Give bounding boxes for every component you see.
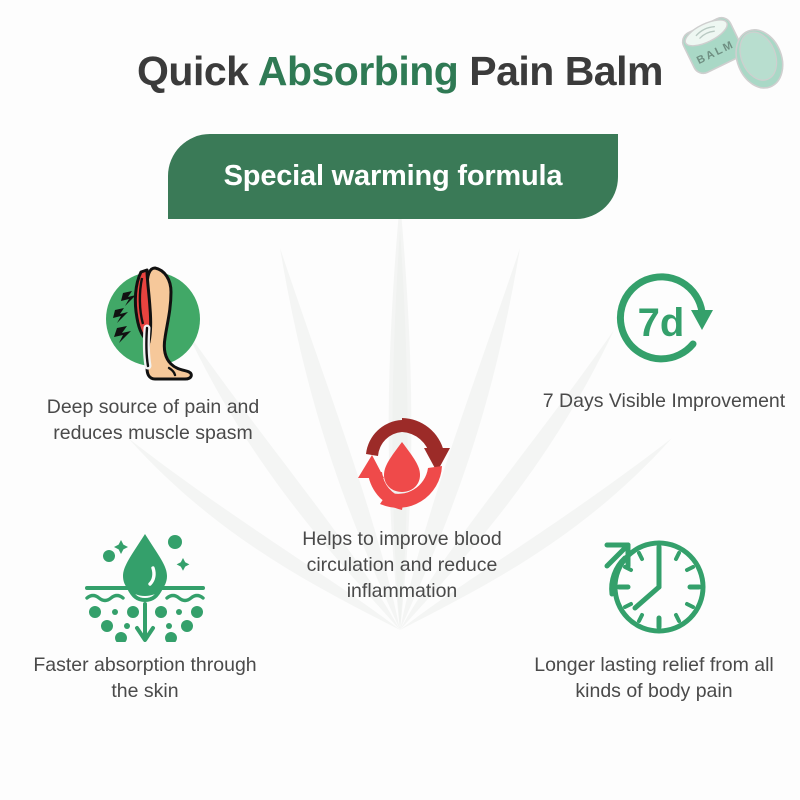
leg-muscle-pain-icon [93, 262, 213, 384]
title-part-two: Pain Balm [458, 48, 663, 94]
title-accent-word: Absorbing [258, 48, 458, 94]
seven-days-circular-arrow-icon: 7d [605, 266, 723, 378]
banner-label: Special warming formula [224, 160, 563, 193]
feature-longer-relief: Longer lasting relief from all kinds of … [518, 532, 790, 704]
page-title: Quick Absorbing Pain Balm [0, 48, 800, 95]
skin-absorption-droplet-icon [79, 524, 211, 642]
feature-circulation-icon-wrap [346, 412, 458, 516]
feature-deep-pain-icon-wrap [93, 262, 213, 384]
blood-circulation-drop-icon [346, 412, 458, 516]
feature-absorption-caption: Faster absorption through the skin [20, 652, 270, 704]
clock-arrow-icon [595, 532, 713, 642]
feature-longer-relief-icon-wrap [595, 532, 713, 642]
feature-seven-days-icon-wrap: 7d [605, 266, 723, 378]
feature-deep-pain: Deep source of pain and reduces muscle s… [23, 262, 283, 446]
feature-seven-days: 7d 7 Days Visible Improvement [540, 266, 788, 414]
feature-absorption-icon-wrap [79, 524, 211, 642]
feature-deep-pain-caption: Deep source of pain and reduces muscle s… [23, 394, 283, 446]
seven-days-icon-text: 7d [638, 301, 685, 345]
feature-seven-days-caption: 7 Days Visible Improvement [543, 388, 785, 414]
special-formula-banner: Special warming formula [168, 134, 618, 219]
title-part-one: Quick [137, 48, 258, 94]
feature-longer-relief-caption: Longer lasting relief from all kinds of … [518, 652, 790, 704]
feature-absorption: Faster absorption through the skin [20, 524, 270, 704]
feature-circulation-caption: Helps to improve blood circulation and r… [263, 526, 541, 604]
feature-circulation: Helps to improve blood circulation and r… [263, 412, 541, 604]
infographic-poster: BALM Quick Absorbing Pain Balm Special w… [0, 0, 800, 800]
